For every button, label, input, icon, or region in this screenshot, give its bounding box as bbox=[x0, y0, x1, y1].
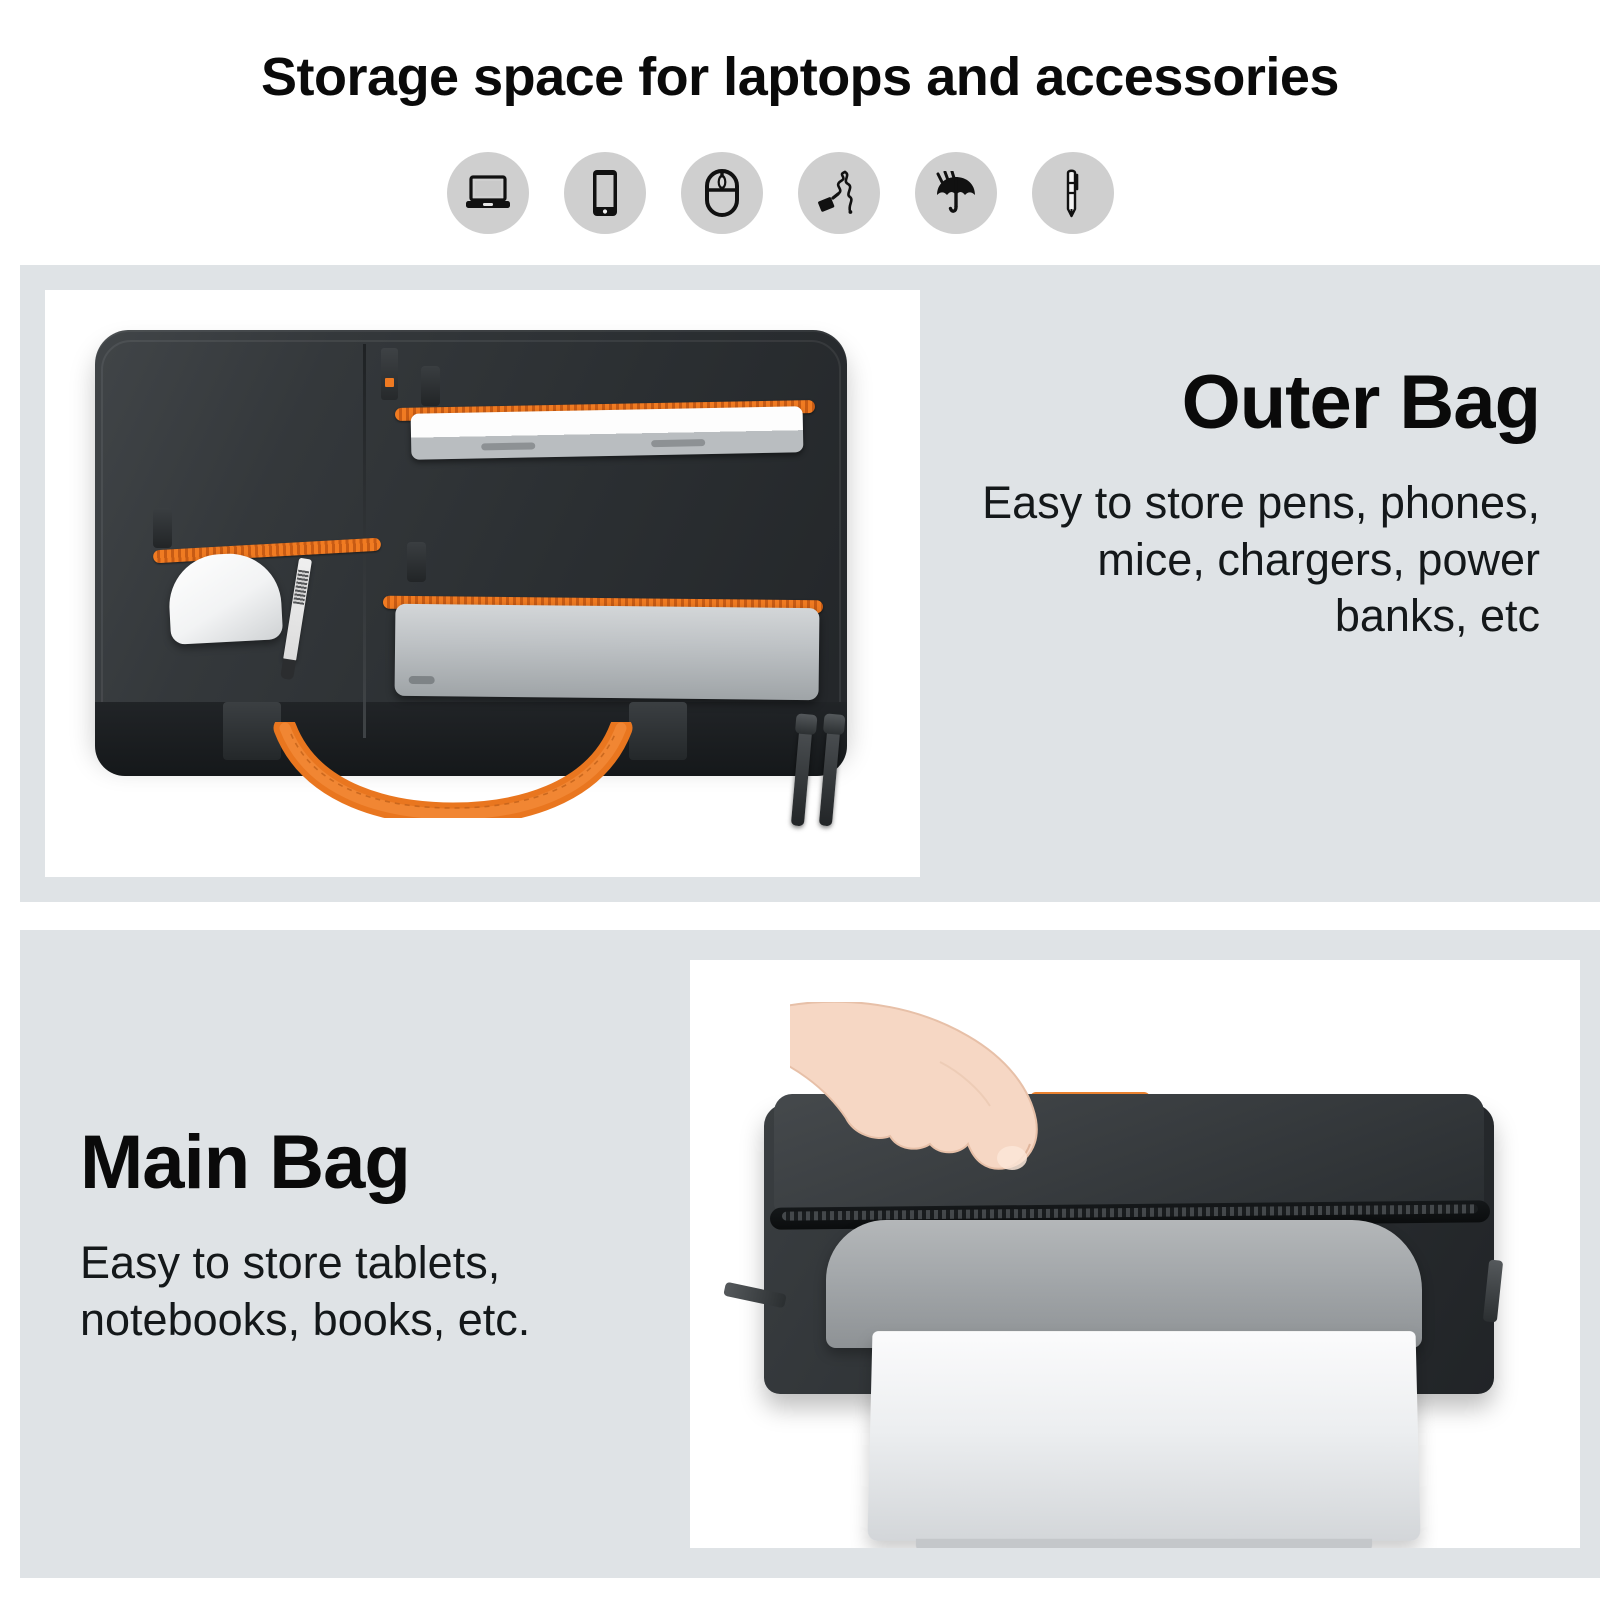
smartphone-icon bbox=[564, 152, 646, 234]
charger-icon bbox=[798, 152, 880, 234]
zipper-pull-tab-bottom bbox=[407, 542, 426, 582]
outer-bag-heading: Outer Bag bbox=[960, 365, 1540, 441]
feature-icon-row bbox=[447, 152, 1153, 234]
hand-illustration bbox=[790, 1002, 1120, 1272]
umbrella-icon bbox=[915, 152, 997, 234]
panel-outer-bag: Outer Bag Easy to store pens, phones, mi… bbox=[20, 265, 1600, 902]
laptop-inserted bbox=[867, 1331, 1420, 1541]
tablet-in-pocket bbox=[395, 604, 820, 700]
main-bag-copy: Main Bag Easy to store tablets, notebook… bbox=[80, 1125, 640, 1348]
main-bag-description: Easy to store tablets, notebooks, books,… bbox=[80, 1235, 640, 1348]
brand-tag bbox=[381, 348, 398, 400]
sleeve-flatlay-illustration bbox=[95, 330, 865, 830]
header-section: Storage space for laptops and accessorie… bbox=[0, 0, 1600, 250]
laptop-icon bbox=[447, 152, 529, 234]
outer-bag-copy: Outer Bag Easy to store pens, phones, mi… bbox=[960, 365, 1540, 645]
outer-bag-description: Easy to store pens, phones, mice, charge… bbox=[960, 475, 1540, 645]
zipper-pull-tab-left bbox=[153, 508, 172, 548]
zipper-pull-tab-top bbox=[421, 366, 440, 406]
infographic-page: Storage space for laptops and accessorie… bbox=[0, 0, 1600, 1600]
orange-handle bbox=[271, 722, 635, 818]
handle-strap-right bbox=[629, 702, 687, 760]
page-title: Storage space for laptops and accessorie… bbox=[0, 46, 1600, 108]
phone-in-pocket bbox=[411, 406, 804, 460]
main-bag-photo bbox=[690, 960, 1580, 1548]
bag-opening-illustration bbox=[730, 1008, 1542, 1508]
pen-icon bbox=[1032, 152, 1114, 234]
panel-main-bag: Main Bag Easy to store tablets, notebook… bbox=[20, 930, 1600, 1578]
outer-bag-photo bbox=[45, 290, 920, 877]
main-bag-heading: Main Bag bbox=[80, 1125, 640, 1201]
mouse-icon bbox=[681, 152, 763, 234]
